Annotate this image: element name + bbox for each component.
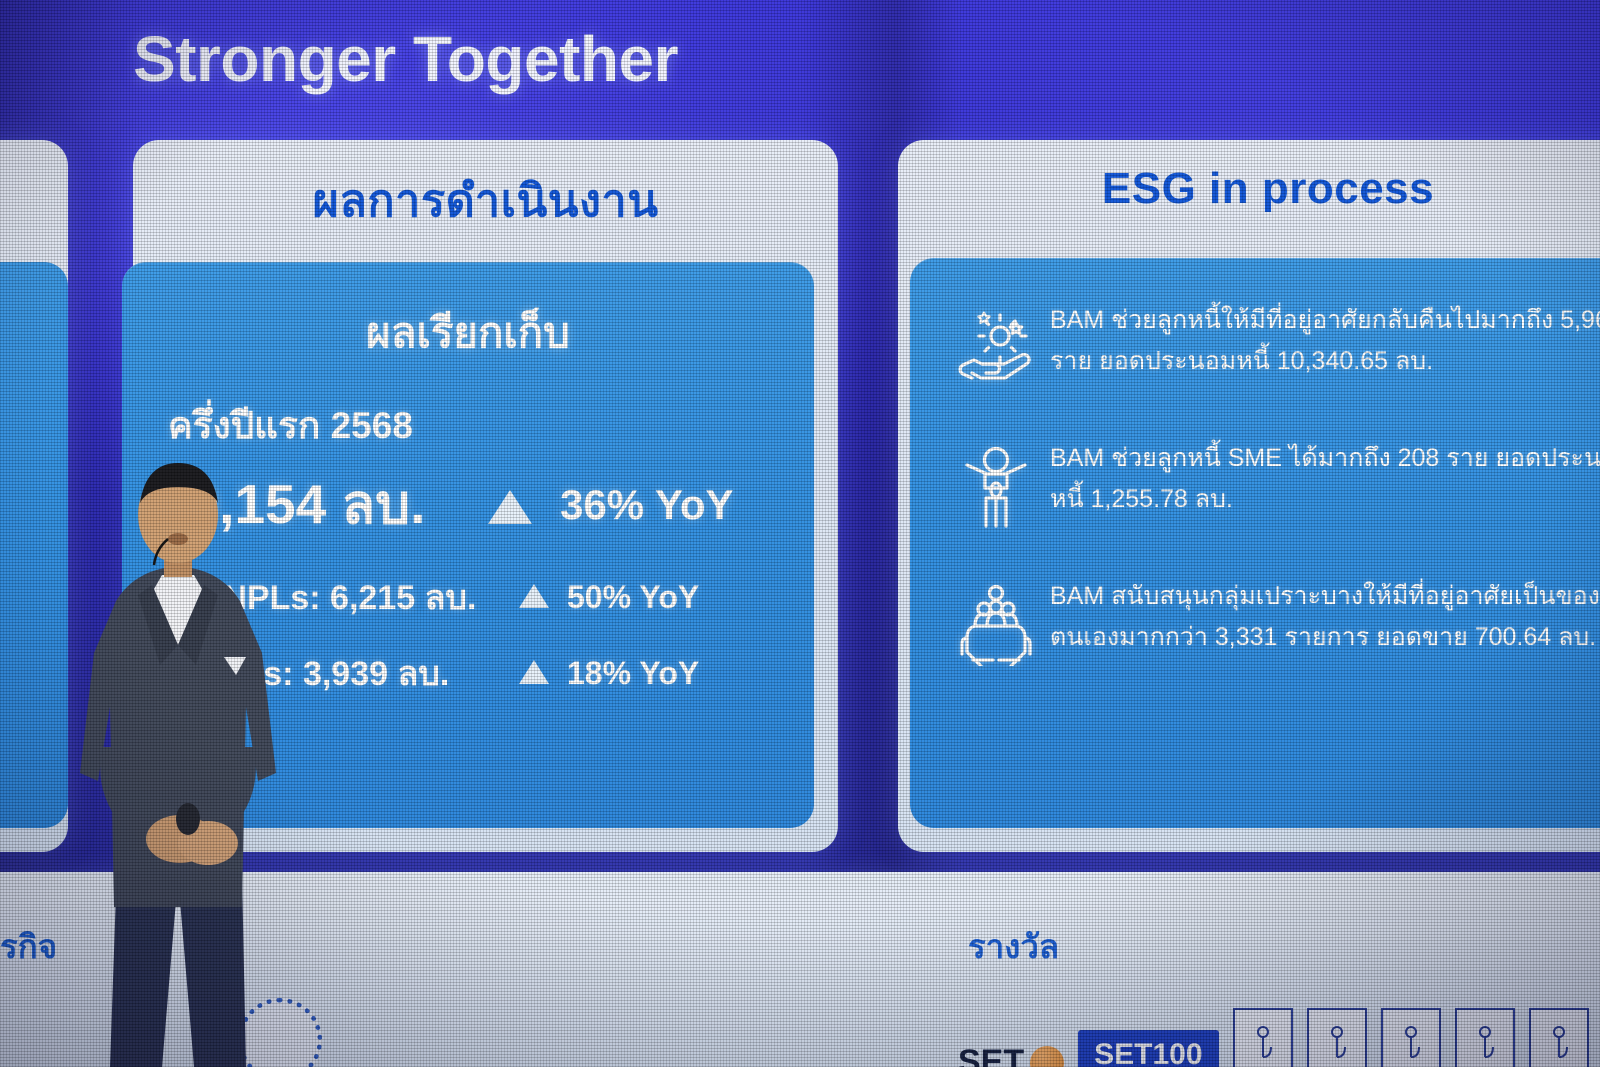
slide-title: Stronger Together: [133, 22, 678, 96]
triangle-up-icon: [519, 578, 549, 617]
hands-holding-family-icon: [942, 572, 1050, 676]
award-plaque-logo: [1233, 1008, 1293, 1067]
esg-inner-card: BAM ช่วยลูกหนี้ให้มีที่อยู่อาศัยกลับคืนไ…: [910, 258, 1600, 828]
performance-row-npas-change: 18% YoY: [567, 655, 699, 692]
esg-item-text: BAM สนับสนุนกลุ่มเปราะบางให้มีที่อยู่อาศ…: [1050, 572, 1600, 657]
esg-item: BAM ช่วยลูกหนี้ SME ได้มากถึง 208 ราย ยอ…: [942, 434, 1600, 538]
presentation-stage: Stronger Together oY ผลการดำเนินงาน ผลเร…: [0, 0, 1600, 1067]
speaker-presenter: [28, 447, 328, 1067]
award-plaque-logo: [1381, 1008, 1441, 1067]
esg-item: BAM ช่วยลูกหนี้ให้มีที่อยู่อาศัยกลับคืนไ…: [942, 296, 1600, 400]
esg-panel-heading: ESG in process: [898, 140, 1600, 214]
performance-subheading: ผลเรียกเก็บ: [122, 300, 814, 366]
set-logo: SET: [958, 1043, 1064, 1067]
triangle-up-icon: [519, 654, 549, 693]
triangle-up-icon: [488, 473, 532, 537]
set-logo-label: SET: [958, 1043, 1024, 1067]
esg-item-text: BAM ช่วยลูกหนี้ SME ได้มากถึง 208 ราย ยอ…: [1050, 434, 1600, 519]
performance-panel-heading: ผลการดำเนินงาน: [133, 140, 838, 236]
award-plaque-logo: [1529, 1008, 1589, 1067]
performance-headline-change: 36% YoY: [560, 481, 734, 529]
bottom-band-right-label: รางวัล: [968, 920, 1059, 973]
bottom-right-logo-strip: SET SET100: [958, 978, 1600, 1067]
esg-item: BAM สนับสนุนกลุ่มเปราะบางให้มีที่อยู่อาศ…: [942, 572, 1600, 676]
esg-panel: ESG in process: [898, 140, 1600, 852]
set-logo-dot: [1030, 1046, 1064, 1067]
award-plaque-logo: [1455, 1008, 1515, 1067]
person-raised-arms-icon: [942, 434, 1050, 538]
esg-item-list: BAM ช่วยลูกหนี้ให้มีที่อยู่อาศัยกลับคืนไ…: [910, 258, 1600, 676]
award-plaque-logo: [1307, 1008, 1367, 1067]
set100-logo: SET100: [1078, 1030, 1218, 1067]
esg-item-text: BAM ช่วยลูกหนี้ให้มีที่อยู่อาศัยกลับคืนไ…: [1050, 296, 1600, 381]
performance-row-npls-change: 50% YoY: [567, 579, 699, 616]
hand-holding-gear-icon: [942, 296, 1050, 400]
